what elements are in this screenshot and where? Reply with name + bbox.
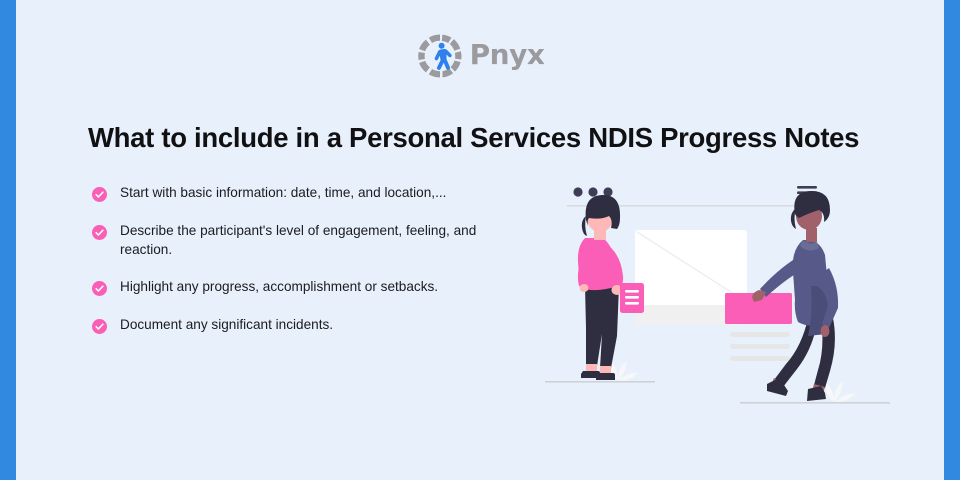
check-circle-icon [92, 187, 107, 202]
slide-canvas: Pnyx What to include in a Personal Servi… [0, 0, 960, 480]
list-item-label: Highlight any progress, accomplishment o… [120, 278, 438, 297]
checklist: Start with basic information: date, time… [92, 184, 532, 354]
ground-line-right [740, 402, 890, 404]
pink-document-icon [620, 283, 644, 313]
ground-line-left [545, 381, 655, 383]
woman-holding-document-figure [578, 195, 623, 380]
list-item: Start with basic information: date, time… [92, 184, 532, 203]
two-people-reviewing-document-board-illustration [545, 168, 890, 413]
list-item-label: Describe the participant's level of enga… [120, 222, 532, 260]
brand-logo: Pnyx [0, 32, 960, 80]
walking-person-in-dashed-circle-icon [416, 32, 464, 80]
check-circle-icon [92, 281, 107, 296]
list-item-label: Start with basic information: date, time… [120, 184, 446, 203]
check-circle-icon [92, 319, 107, 334]
check-circle-icon [92, 225, 107, 240]
placeholder-lines [730, 332, 790, 361]
list-item: Document any significant incidents. [92, 316, 532, 335]
three-dots-icon [573, 187, 582, 196]
list-item: Describe the participant's level of enga… [92, 222, 532, 260]
brand-wordmark: Pnyx [470, 41, 545, 71]
page-title: What to include in a Personal Services N… [88, 121, 888, 154]
plant-right-icon [826, 382, 855, 402]
list-item-label: Document any significant incidents. [120, 316, 333, 335]
list-item: Highlight any progress, accomplishment o… [92, 278, 532, 297]
